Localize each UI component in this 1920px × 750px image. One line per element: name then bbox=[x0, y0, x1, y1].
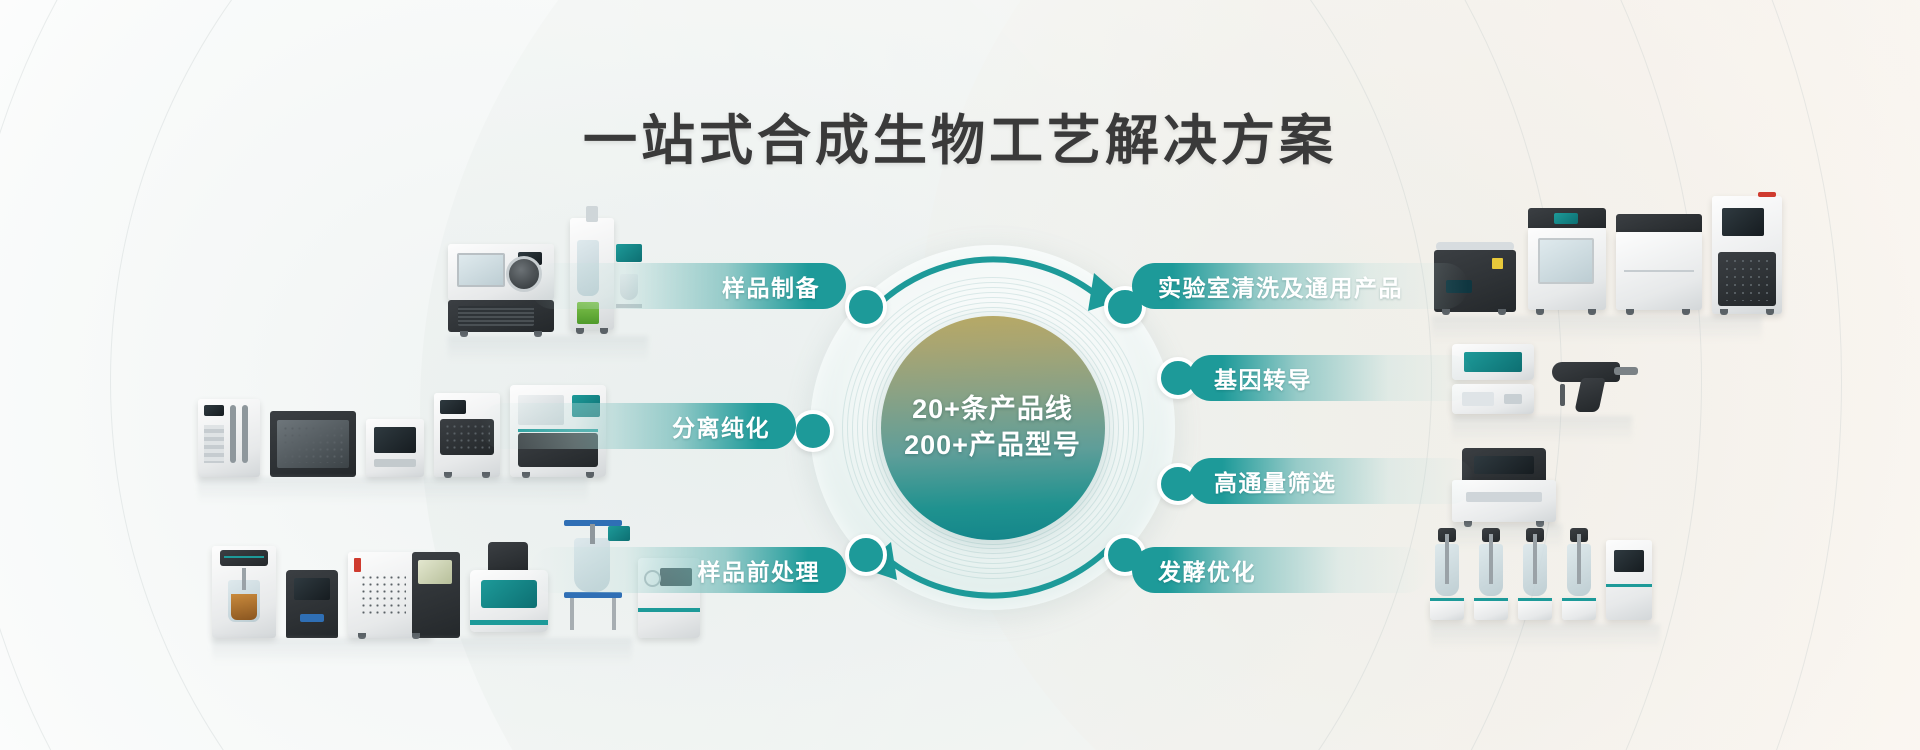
node-sample-preparation[interactable] bbox=[845, 286, 887, 328]
hub-inner-disc: 20+条产品线 200+产品型号 bbox=[881, 316, 1105, 540]
pill-gene-transduction[interactable]: 基因转导 bbox=[1188, 355, 1474, 401]
device-ultrasonic-homogenizer bbox=[212, 546, 276, 638]
node-sample-pretreatment[interactable] bbox=[845, 534, 887, 576]
device-bioreactor-controller bbox=[1606, 528, 1652, 624]
hub-stat-product-lines: 20+条产品线 bbox=[912, 392, 1073, 428]
device-chromatography-column-rack bbox=[198, 399, 260, 477]
device-cip-system bbox=[1712, 196, 1782, 314]
device-bead-mill bbox=[286, 570, 338, 638]
node-separation-purification[interactable] bbox=[792, 410, 834, 452]
pill-label-fermentation-optimization: 发酵优化 bbox=[1158, 553, 1256, 587]
device-glassware-washer-b bbox=[1616, 214, 1702, 314]
device-liquid-handler bbox=[270, 411, 356, 477]
device-sample-prep-station bbox=[366, 419, 424, 477]
page-title: 一站式合成生物工艺解决方案 bbox=[0, 96, 1920, 175]
pill-label-lab-washing-general: 实验室清洗及通用产品 bbox=[1158, 269, 1403, 303]
device-gene-gun bbox=[1544, 354, 1640, 418]
pill-label-sample-preparation: 样品制备 bbox=[722, 269, 820, 303]
device-parallel-bioreactor-2 bbox=[1474, 528, 1508, 624]
pill-high-throughput-screening[interactable]: 高通量筛选 bbox=[1188, 458, 1474, 504]
device-cryogenic-grinder bbox=[348, 552, 460, 638]
device-parallel-bioreactor-1 bbox=[1430, 528, 1464, 624]
pill-fermentation-optimization[interactable]: 发酵优化 bbox=[1132, 547, 1428, 593]
hub-stat-product-models: 200+产品型号 bbox=[904, 428, 1081, 464]
central-hub: 20+条产品线 200+产品型号 bbox=[810, 245, 1175, 610]
device-glassware-washer-a bbox=[1528, 208, 1606, 314]
pill-lab-washing-general[interactable]: 实验室清洗及通用产品 bbox=[1132, 263, 1468, 309]
device-parallel-bioreactor-3 bbox=[1518, 528, 1552, 624]
pill-sample-preparation[interactable]: 样品制备 bbox=[530, 263, 846, 309]
pill-sample-pretreatment[interactable]: 样品前处理 bbox=[530, 547, 846, 593]
device-parallel-bioreactor-4 bbox=[1562, 528, 1596, 624]
pill-label-gene-transduction: 基因转导 bbox=[1214, 361, 1312, 395]
pill-separation-purification[interactable]: 分离纯化 bbox=[480, 403, 796, 449]
pill-label-high-throughput-screening: 高通量筛选 bbox=[1214, 464, 1337, 498]
infographic-canvas: 一站式合成生物工艺解决方案 bbox=[0, 0, 1920, 750]
pill-label-separation-purification: 分离纯化 bbox=[672, 409, 770, 443]
pill-label-sample-pretreatment: 样品前处理 bbox=[698, 553, 821, 587]
